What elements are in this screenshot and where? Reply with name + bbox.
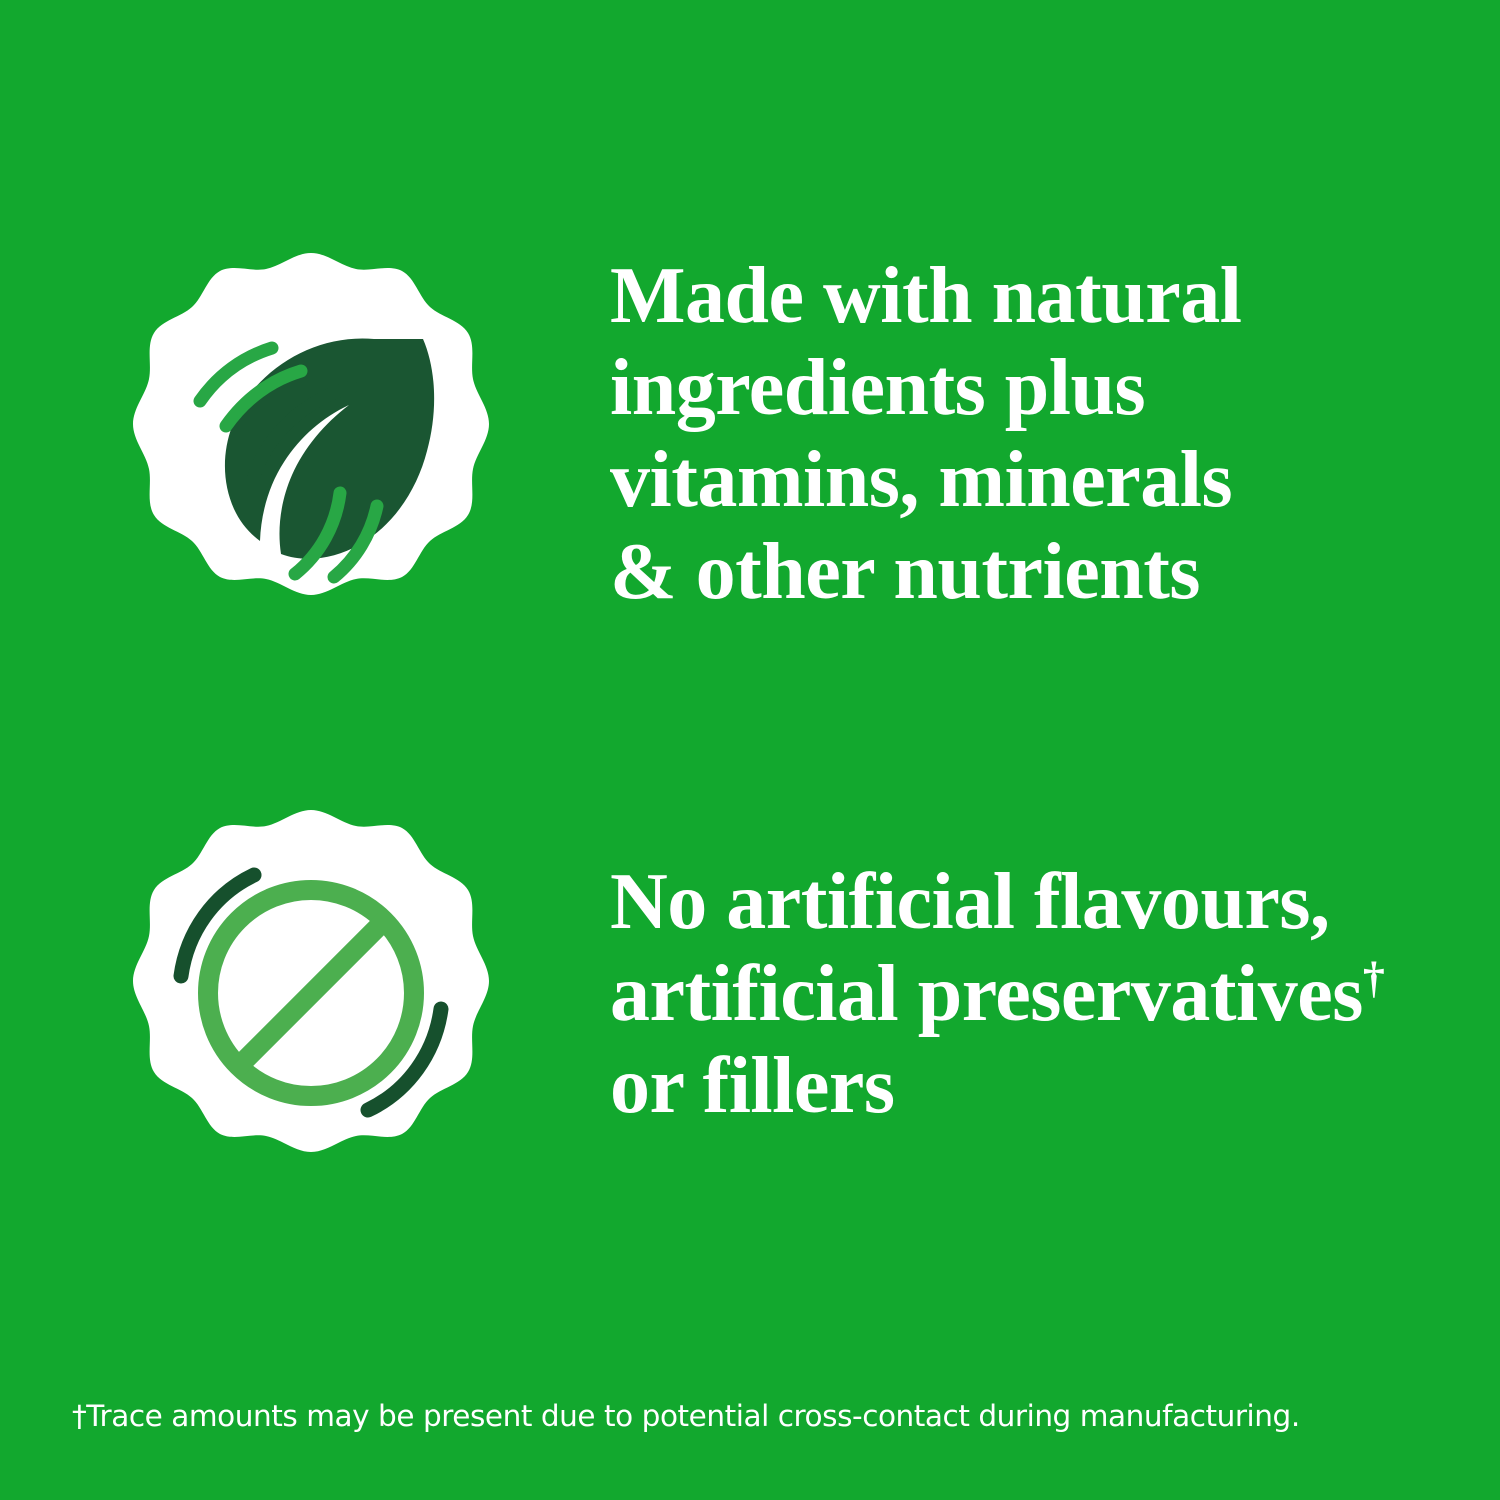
- benefit-row-no-artificial: No artificial flavours, artificial prese…: [0, 810, 1500, 1176]
- benefit-text-no-artificial-main: No artificial flavours, artificial prese…: [610, 858, 1363, 1038]
- footnote-text: †Trace amounts may be present due to pot…: [72, 1398, 1462, 1434]
- footnote-marker-dagger: †: [1363, 953, 1385, 1002]
- leaf-badge-icon: [128, 253, 494, 619]
- benefit-row-natural-ingredients: Made with natural ingredients plus vitam…: [0, 253, 1500, 619]
- benefit-text-no-artificial: No artificial flavours, artificial prese…: [610, 856, 1500, 1132]
- product-benefits-panel: Made with natural ingredients plus vitam…: [0, 0, 1500, 1500]
- benefit-text-no-artificial-tail: or fillers: [610, 1042, 895, 1130]
- no-symbol-badge-icon: [128, 810, 494, 1176]
- benefit-text-natural-ingredients: Made with natural ingredients plus vitam…: [610, 250, 1500, 618]
